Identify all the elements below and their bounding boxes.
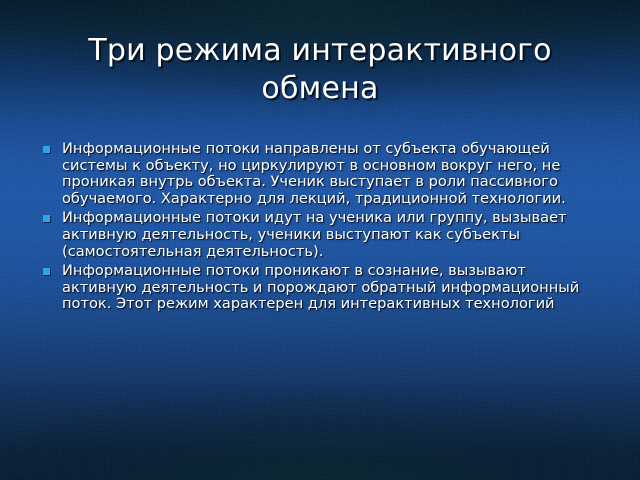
list-item: Информационные потоки направлены от субъ… [40,141,596,207]
list-item: Информационные потоки идут на ученика ил… [40,210,596,260]
list-item-text: Информационные потоки проникают в сознан… [62,263,596,313]
square-bullet-icon [43,268,50,275]
list-item-text: Информационные потоки идут на ученика ил… [62,210,596,260]
bullet-list: Информационные потоки направлены от субъ… [40,141,596,316]
slide-content: Три режима интерактивного обмена Информа… [0,0,640,480]
list-item-text: Информационные потоки направлены от субъ… [62,141,596,207]
square-bullet-icon [43,146,50,153]
list-item: Информационные потоки проникают в сознан… [40,263,596,313]
square-bullet-icon [43,215,50,222]
slide-title: Три режима интерактивного обмена [26,32,614,108]
presentation-slide: Три режима интерактивного обмена Информа… [0,0,640,480]
